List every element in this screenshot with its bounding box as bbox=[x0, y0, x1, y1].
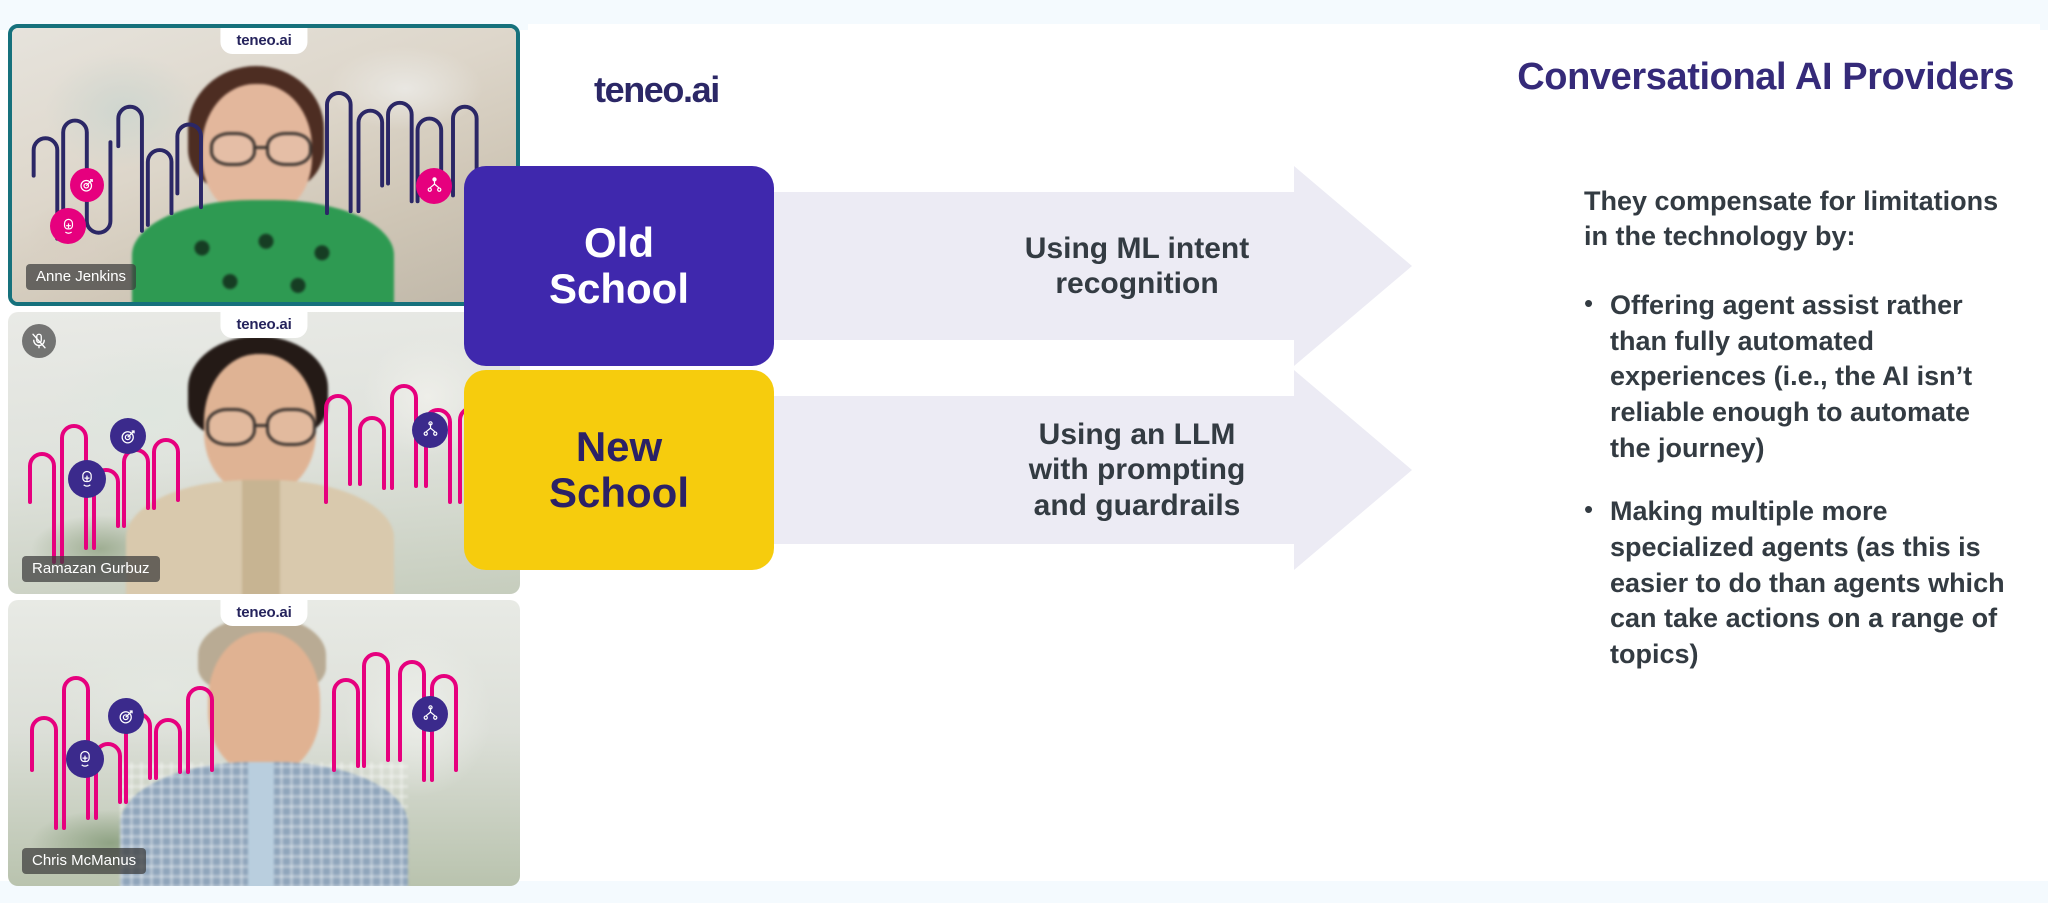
teneo-badge: teneo.ai bbox=[220, 600, 307, 626]
notes-lead-text: They compensate for limitations in the t… bbox=[1584, 184, 2014, 254]
target-icon-bubble bbox=[108, 698, 144, 734]
microphone-muted-icon[interactable] bbox=[22, 324, 56, 358]
slide-notes: They compensate for limitations in the t… bbox=[1584, 184, 2014, 700]
shared-slide: teneo.ai Conversational AI Providers Usi… bbox=[528, 24, 2040, 881]
participant-name-label: Anne Jenkins bbox=[26, 264, 136, 290]
teneo-squiggle-graphic bbox=[12, 28, 516, 302]
bullet-marker: • bbox=[1584, 288, 1594, 466]
flow-arrow-new-school: Using an LLM with prompting and guardrai… bbox=[734, 370, 1412, 570]
brain-hand-icon-bubble bbox=[66, 740, 104, 778]
teneo-squiggle-graphic bbox=[8, 312, 520, 594]
brain-hand-icon-bubble bbox=[68, 460, 106, 498]
flow-box-label-line-2: School bbox=[549, 266, 689, 312]
participant-video-rail: teneo.ai Anne Jenkins bbox=[8, 24, 520, 886]
flow-box-old-school: Old School bbox=[464, 166, 774, 366]
bullet-marker: • bbox=[1584, 494, 1594, 672]
flow-arrow-old-school: Using ML intent recognition bbox=[734, 166, 1412, 366]
brain-hand-icon-bubble bbox=[50, 208, 86, 244]
teneo-badge: teneo.ai bbox=[220, 312, 307, 338]
video-background bbox=[8, 600, 520, 886]
network-node-icon-bubble bbox=[412, 412, 448, 448]
flow-box-label-line-2: School bbox=[549, 470, 689, 516]
network-node-icon-bubble bbox=[412, 696, 448, 732]
flow-box-label-line-1: Old bbox=[549, 220, 689, 266]
network-node-icon-bubble bbox=[416, 168, 452, 204]
bullet-text: Offering agent assist rather than fully … bbox=[1610, 288, 2014, 466]
list-item: • Offering agent assist rather than full… bbox=[1584, 288, 2014, 466]
target-icon-bubble bbox=[110, 418, 146, 454]
video-tile-ramazan-gurbuz[interactable]: teneo.ai Ramazan Gurbuz bbox=[8, 312, 520, 594]
video-tile-anne-jenkins[interactable]: teneo.ai Anne Jenkins bbox=[8, 24, 520, 306]
flow-box-new-school: New School bbox=[464, 370, 774, 570]
bullet-text: Making multiple more specialized agents … bbox=[1610, 494, 2014, 672]
target-icon-bubble bbox=[70, 168, 104, 202]
video-background bbox=[8, 312, 520, 594]
video-tile-chris-mcmanus[interactable]: teneo.ai Chris McManus bbox=[8, 600, 520, 886]
flow-box-label-line-1: New bbox=[549, 424, 689, 470]
flow-arrow-label: Using an LLM with prompting and guardrai… bbox=[734, 370, 1412, 570]
flow-arrow-label: Using ML intent recognition bbox=[734, 166, 1412, 366]
participant-name-label: Ramazan Gurbuz bbox=[22, 556, 160, 582]
video-background bbox=[12, 28, 516, 302]
participant-name-label: Chris McManus bbox=[22, 848, 146, 874]
teneo-badge: teneo.ai bbox=[220, 28, 307, 54]
list-item: • Making multiple more specialized agent… bbox=[1584, 494, 2014, 672]
app-root: teneo.ai Anne Jenkins bbox=[0, 0, 2048, 903]
